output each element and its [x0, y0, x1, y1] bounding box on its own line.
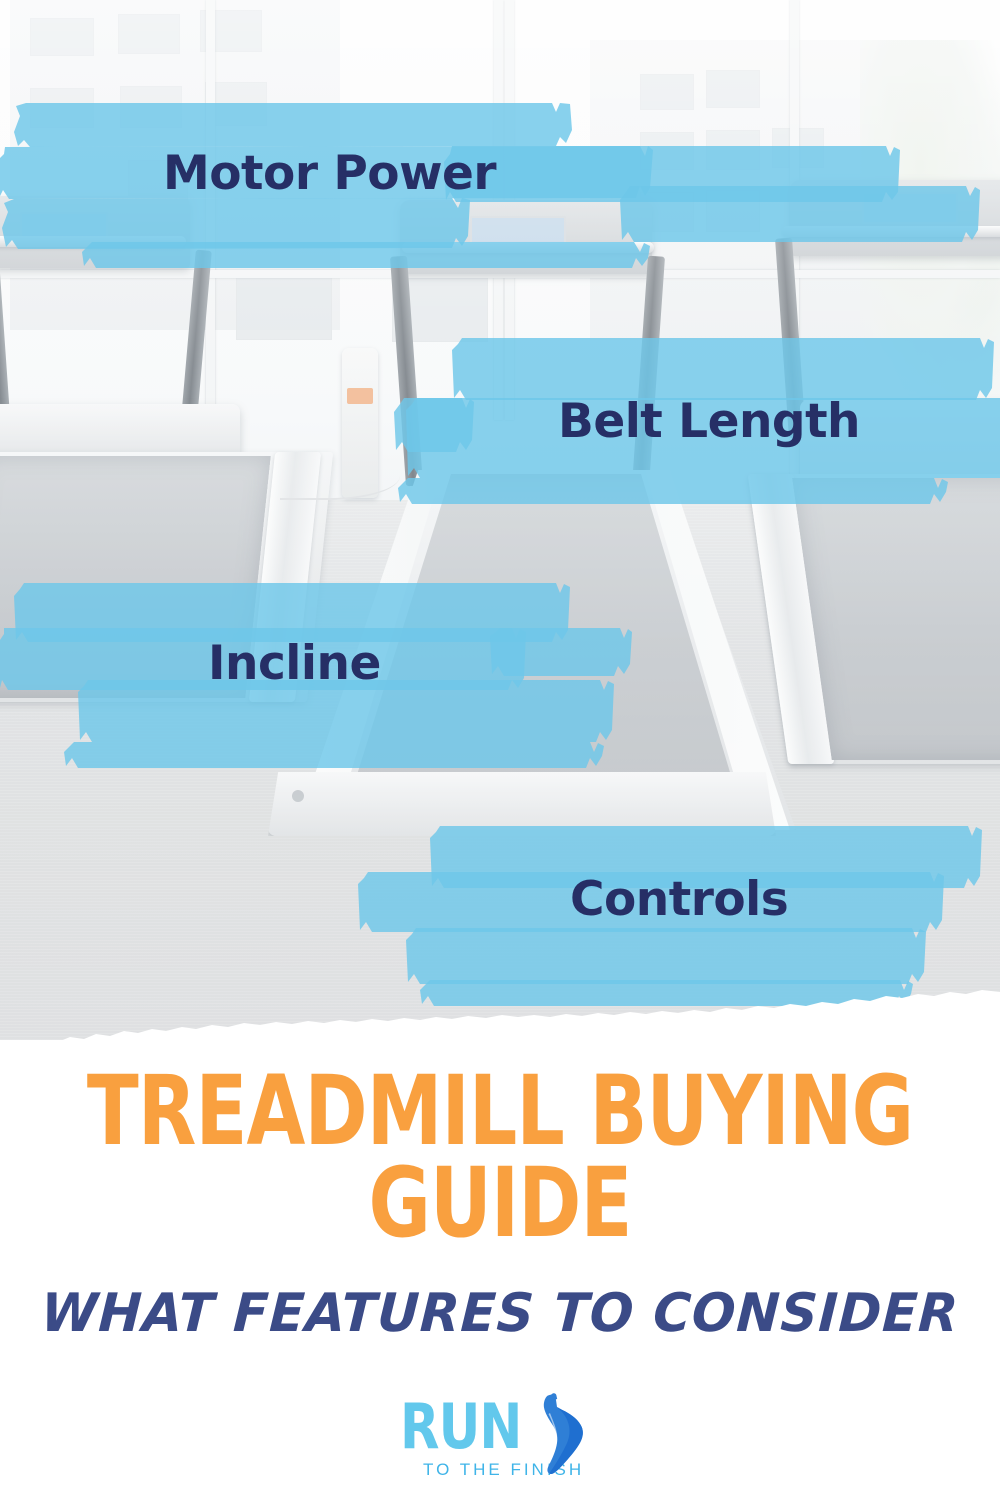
stroke-controls-c	[406, 928, 926, 984]
pin-title-line-2: GUIDE	[369, 1147, 632, 1259]
stroke-motor-power-f	[82, 242, 650, 268]
stroke-belt-length-c	[394, 398, 474, 452]
hero-photo: Motor Power Belt Length Incline Controls	[0, 0, 1000, 1040]
stroke-incline-e	[64, 742, 604, 768]
highlight-label-controls: Controls	[570, 872, 788, 927]
stroke-motor-power-a	[14, 103, 572, 147]
highlight-label-incline: Incline	[208, 636, 381, 691]
pin-title: TREADMILL BUYING GUIDE	[60, 1065, 940, 1249]
stroke-motor-power-e	[620, 186, 980, 242]
pinterest-pin: Motor Power Belt Length Incline Controls…	[0, 0, 1000, 1500]
stroke-belt-length-d	[398, 478, 948, 504]
running-shoe-icon	[522, 1393, 592, 1480]
stroke-motor-power-c	[2, 198, 470, 249]
brand-logo[interactable]: RUN TO THE FINISH	[0, 1398, 1000, 1490]
pin-subtitle: WHAT FEATURES TO CONSIDER	[13, 1283, 986, 1344]
stroke-incline-d	[490, 628, 632, 676]
highlight-label-belt-length: Belt Length	[558, 394, 860, 449]
highlight-label-motor-power: Motor Power	[163, 146, 496, 201]
highlight-strokes-layer	[0, 0, 1000, 1040]
logo-wordmark: RUN	[400, 1398, 521, 1456]
stroke-belt-length-a	[452, 338, 994, 400]
